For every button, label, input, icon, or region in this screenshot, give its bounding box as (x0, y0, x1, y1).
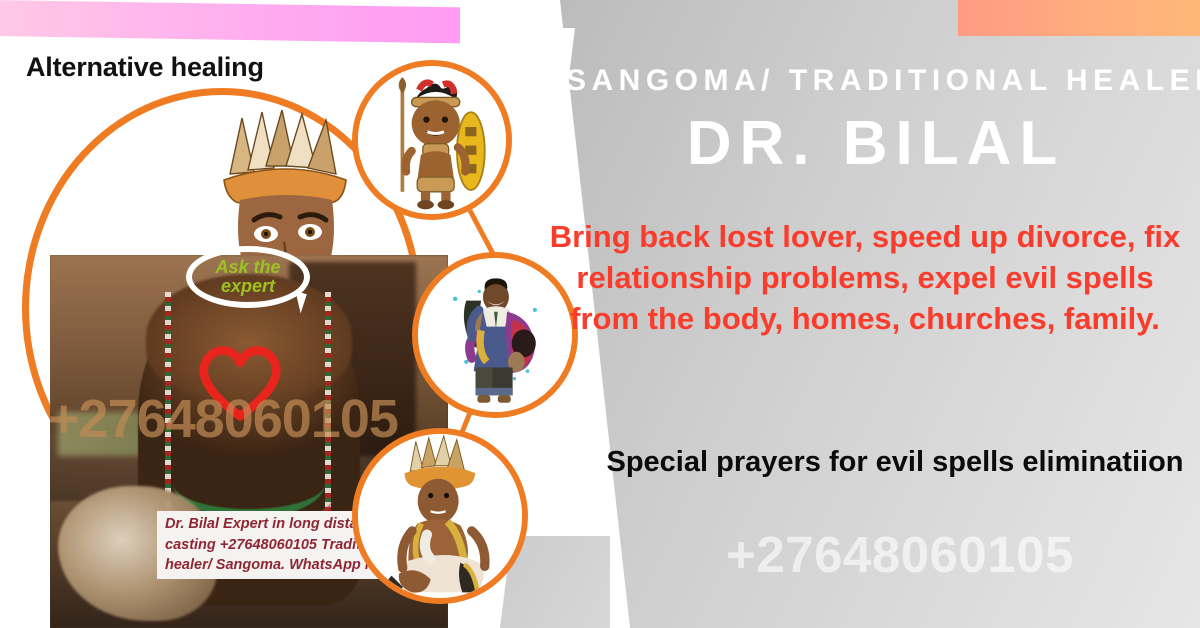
contact-phone-watermark: +27648060105 (600, 525, 1200, 584)
circle-image-crouching-sangoma (352, 428, 528, 604)
circle-image-zulu-warrior (352, 60, 512, 220)
special-prayers-text: Special prayers for evil spells eliminat… (600, 443, 1190, 482)
promo-banner: Alternative healing (0, 0, 1200, 628)
page-title: Alternative healing (26, 52, 264, 83)
ask-the-expert-bubble: Ask the expert (186, 246, 310, 308)
pink-accent-bar (0, 0, 460, 43)
right-subtitle: SANGOMA/ TRADITIONAL HEALER (566, 64, 1186, 98)
services-text: Bring back lost lover, speed up divorce,… (540, 216, 1190, 340)
speech-bubble-text: Ask the expert (198, 258, 298, 297)
right-title: DR. BILAL (566, 108, 1186, 179)
orange-accent-bar (958, 0, 1200, 36)
